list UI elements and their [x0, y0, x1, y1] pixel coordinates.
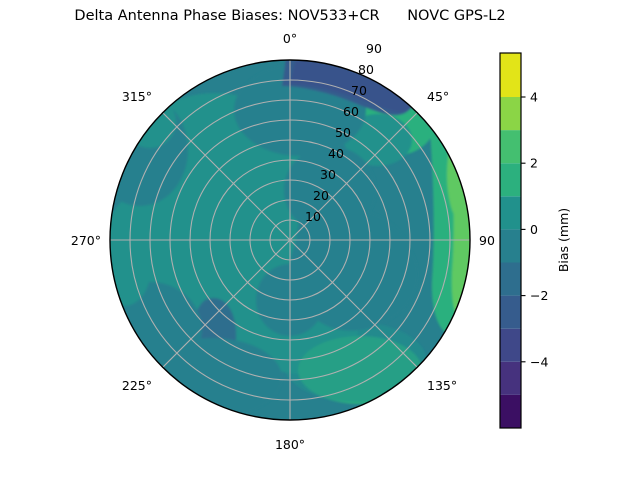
- colorbar-ticklabel-m2: −2: [530, 288, 548, 303]
- region-nw-outer-teal: [92, 94, 188, 206]
- angular-tick-135: 135°: [427, 378, 457, 393]
- page-title: Delta Antenna Phase Biases: NOV533+CR NO…: [0, 8, 580, 24]
- angular-tick-0: 0°: [283, 31, 297, 46]
- colorbar-ticklabel-2: 2: [530, 156, 538, 171]
- polar-grid: [110, 60, 470, 420]
- colorbar-axis-label: Bias (mm): [556, 208, 571, 272]
- colorbar-band-3: [500, 296, 521, 329]
- figure-canvas: Delta Antenna Phase Biases: NOV533+CR NO…: [0, 0, 640, 480]
- region-right-bright-green-upper: [447, 127, 479, 223]
- colorbar-ticklabel-4: 4: [530, 90, 538, 105]
- colorbar-band-1: [500, 362, 521, 395]
- radial-tick-50: 50: [335, 125, 351, 140]
- colorbar-ticklabel-0: 0: [530, 222, 538, 237]
- colorbar-band-2: [500, 329, 521, 362]
- radial-tick-40: 40: [328, 146, 344, 161]
- colorbar-band-6: [500, 196, 521, 229]
- angular-tick-270: 270°: [71, 233, 101, 248]
- angular-tick-315: 315°: [122, 89, 152, 104]
- colorbar-band-8: [500, 130, 521, 163]
- angular-tick-45: 45°: [427, 89, 449, 104]
- colorbar: 4 2 0 −2 −4 Bias (mm): [500, 53, 571, 428]
- colorbar-band-4: [500, 263, 521, 296]
- colorbar-ticklabel-m4: −4: [530, 354, 548, 369]
- region-right-bright-green: [450, 128, 483, 323]
- radial-tick-60: 60: [343, 104, 359, 119]
- angular-tick-225: 225°: [122, 378, 152, 393]
- colorbar-band-10: [500, 53, 521, 97]
- radial-tick-70: 70: [351, 83, 367, 98]
- radial-tick-20: 20: [313, 188, 329, 203]
- colorbar-band-9: [500, 97, 521, 130]
- radial-tick-80: 80: [358, 62, 374, 77]
- angular-tick-180: 180°: [275, 437, 305, 452]
- colorbar-band-7: [500, 163, 521, 196]
- region-west-outer-teal: [98, 282, 202, 378]
- radial-tick-30: 30: [320, 167, 336, 182]
- region-south-green-soft: [283, 322, 427, 402]
- region-w-teal-spot: [98, 238, 150, 306]
- colorbar-band-5: [500, 229, 521, 262]
- polar-plot: 0° 45° 90 135° 180° 225° 270° 315° 10 20…: [0, 0, 640, 480]
- colorbar-band-0: [500, 395, 521, 428]
- radial-tick-90: 90: [366, 41, 382, 56]
- radial-tick-10: 10: [305, 209, 321, 224]
- angular-tick-90: 90: [479, 233, 495, 248]
